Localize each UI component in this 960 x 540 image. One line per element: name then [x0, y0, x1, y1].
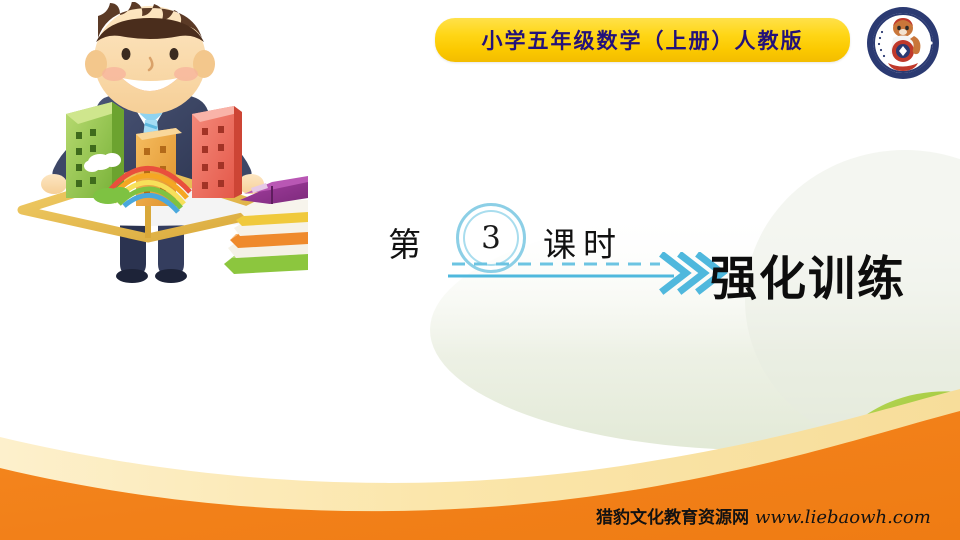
lesson-number-label: 3	[481, 223, 501, 254]
boy-head	[85, 2, 215, 114]
footer-credit: 猎豹文化教育资源网 www.liebaowh.com	[596, 503, 931, 528]
dashed-arrow-icon	[448, 252, 748, 300]
footer-site-url[interactable]: www.liebaowh.com	[755, 507, 931, 528]
lesson-prefix-label: 第	[388, 218, 421, 266]
student-with-popup-book-illustration	[8, 2, 308, 294]
title-banner: 小学五年级数学（上册）人教版	[435, 18, 850, 62]
green-hill-shape	[832, 391, 960, 456]
footer-site-name: 猎豹文化教育资源网	[596, 503, 749, 528]
page-title: 强化训练	[710, 240, 906, 309]
slide-canvas: 小学五年级数学（上册）人教版	[0, 0, 960, 540]
publisher-seal-icon[interactable]	[866, 6, 940, 80]
title-banner-label: 小学五年级数学（上册）人教版	[482, 25, 804, 55]
